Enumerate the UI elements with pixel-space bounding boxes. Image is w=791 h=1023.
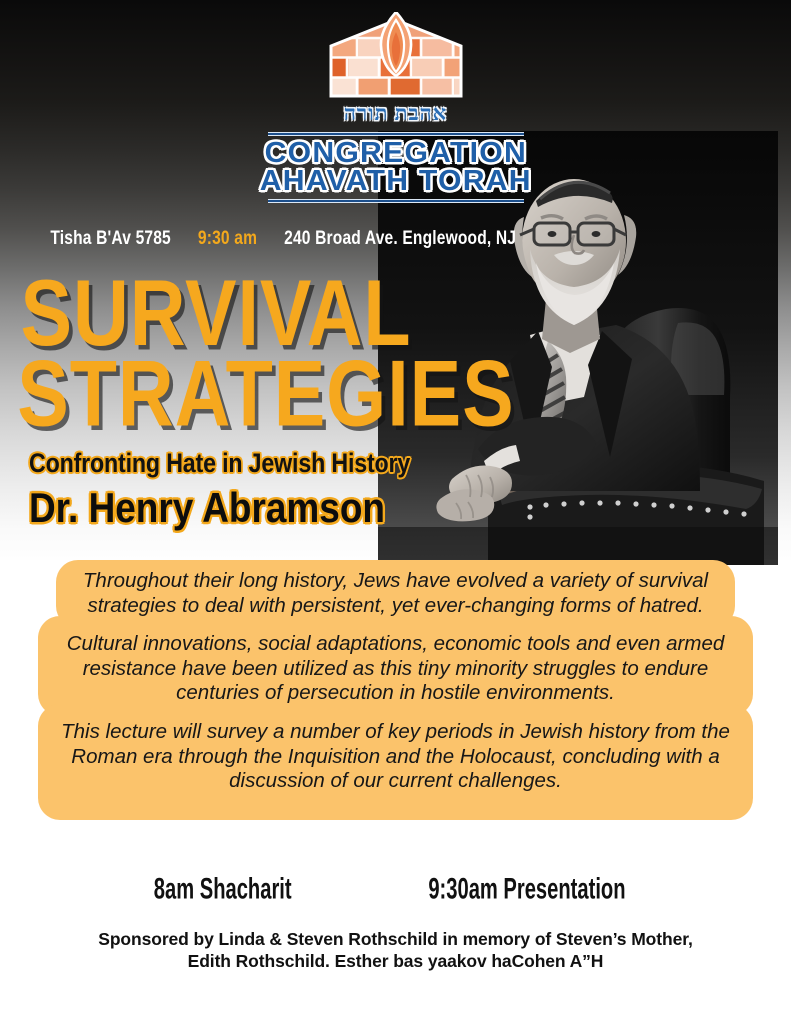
schedule-row: 8am Shacharit 9:30am Presentation bbox=[0, 873, 791, 905]
congregation-logo: אהבת תורה CONGREGATION AHAVATH TORAH bbox=[0, 12, 791, 203]
logo-divider-top bbox=[268, 132, 524, 136]
event-occasion: Tisha B'Av 5785 bbox=[50, 228, 170, 249]
flyer-poster: אהבת תורה CONGREGATION AHAVATH TORAH Tis… bbox=[0, 0, 791, 1023]
description-paragraph-2: Cultural innovations, social adaptations… bbox=[38, 616, 753, 716]
speaker-name: Dr. Henry Abramson bbox=[25, 484, 389, 532]
sponsor-credit-line1: Sponsored by Linda & Steven Rothschild i… bbox=[98, 929, 692, 949]
sponsor-credit: Sponsored by Linda & Steven Rothschild i… bbox=[40, 929, 751, 972]
event-time: 9:30 am bbox=[198, 228, 257, 249]
event-location: 240 Broad Ave. Englewood, NJ bbox=[284, 228, 516, 249]
page-title: SURVIVAL STRATEGIES bbox=[17, 272, 414, 434]
sponsor-credit-line2: Edith Rothschild. Esther bas yaakov haCo… bbox=[40, 951, 751, 973]
description-panel: Throughout their long history, Jews have… bbox=[0, 560, 791, 820]
page-subtitle: Confronting Hate in Jewish History bbox=[29, 448, 385, 479]
page-title-line2: STRATEGIES bbox=[17, 353, 414, 434]
description-paragraph-3: This lecture will survey a number of key… bbox=[38, 704, 753, 820]
organization-name: CONGREGATION AHAVATH TORAH bbox=[259, 140, 531, 195]
logo-divider-bottom bbox=[268, 199, 524, 203]
schedule-item-presentation: 9:30am Presentation bbox=[429, 872, 626, 906]
event-info-line: Tisha B'Av 5785 9:30 am 240 Broad Ave. E… bbox=[50, 228, 509, 250]
schedule-item-shacharit: 8am Shacharit bbox=[154, 872, 292, 906]
flame-in-brick-building-logo-icon bbox=[321, 12, 471, 100]
organization-name-line2: AHAVATH TORAH bbox=[259, 168, 531, 196]
hebrew-organization-name: אהבת תורה bbox=[344, 101, 447, 126]
